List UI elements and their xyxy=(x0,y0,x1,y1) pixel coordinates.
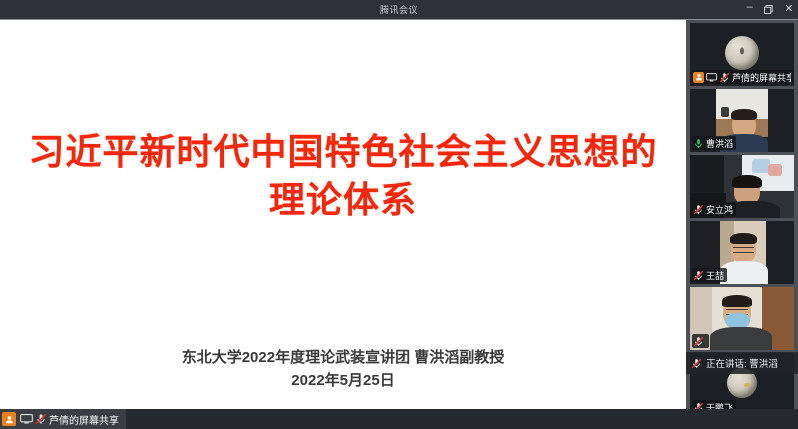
mic-muted-icon xyxy=(693,204,704,215)
avatar xyxy=(725,36,759,70)
participant-tile[interactable]: 曹洪滔 xyxy=(690,89,794,152)
screen-share-icon xyxy=(706,73,717,82)
maximize-icon[interactable] xyxy=(764,5,773,14)
active-speaker-text: 正在讲话: 曹洪滔 xyxy=(706,356,778,370)
participant-tile[interactable]: 安立鸿 xyxy=(690,155,794,218)
mic-on-icon xyxy=(693,138,704,149)
active-speaker-banner: 正在讲话: 曹洪滔 xyxy=(686,352,798,374)
mic-muted-icon xyxy=(693,270,704,281)
participant-label: 安立鸿 xyxy=(692,202,736,216)
mic-muted-icon xyxy=(719,72,730,83)
tencent-meeting-window: 腾讯会议 – ✕ 习近平新时代中国特色社会主义思想的 理论体系 东北大学2022… xyxy=(0,0,798,429)
participant-name: 安立鸿 xyxy=(706,203,733,216)
slide-subtitle-line2: 2022年5月25日 xyxy=(0,369,686,392)
presenter-label: 芦倩的屏幕共享 xyxy=(49,412,121,427)
slide-subtitle-line1: 东北大学2022年度理论武装宣讲团 曹洪滔副教授 xyxy=(182,349,505,366)
mic-muted-icon xyxy=(693,336,704,347)
screen-share-icon xyxy=(20,414,33,424)
participant-sidebar[interactable]: 芦倩的屏幕共享 xyxy=(686,20,798,409)
minimize-icon[interactable]: – xyxy=(747,2,754,13)
slide-title-line1: 习近平新时代中国特色社会主义思想的 xyxy=(28,131,657,172)
participant-tile[interactable] xyxy=(690,287,794,350)
host-badge-icon xyxy=(693,72,704,83)
slide-subtitle: 东北大学2022年度理论武装宣讲团 曹洪滔副教授 2022年5月25日 xyxy=(0,346,686,393)
window-controls: – ✕ xyxy=(747,0,794,19)
shared-screen-stage: 习近平新时代中国特色社会主义思想的 理论体系 东北大学2022年度理论武装宣讲团… xyxy=(0,20,686,409)
participant-label: 芦倩的屏幕共享 xyxy=(692,70,794,84)
participant-tile[interactable]: 王喆 xyxy=(690,221,794,284)
slide-title-line2: 理论体系 xyxy=(0,176,686,224)
mic-muted-icon xyxy=(691,358,702,369)
bottom-status-bar: 芦倩的屏幕共享 xyxy=(0,409,798,429)
close-icon[interactable]: ✕ xyxy=(784,4,794,15)
window-titlebar: 腾讯会议 – ✕ xyxy=(0,0,798,20)
slide-title: 习近平新时代中国特色社会主义思想的 理论体系 xyxy=(0,128,686,223)
participant-label: 曹洪滔 xyxy=(692,136,736,150)
participant-label: 王喆 xyxy=(692,268,727,282)
presentation-slide: 习近平新时代中国特色社会主义思想的 理论体系 东北大学2022年度理论武装宣讲团… xyxy=(0,20,686,409)
participant-name: 芦倩的屏幕共享 xyxy=(732,71,791,84)
participant-tile[interactable]: 芦倩的屏幕共享 xyxy=(690,23,794,86)
host-badge-icon xyxy=(2,412,16,426)
participant-name: 王喆 xyxy=(706,269,724,282)
window-title: 腾讯会议 xyxy=(380,3,418,16)
participant-name: 曹洪滔 xyxy=(706,137,733,150)
mic-muted-icon xyxy=(35,413,47,425)
presenter-chip: 芦倩的屏幕共享 xyxy=(0,409,126,429)
participant-label xyxy=(692,334,709,348)
